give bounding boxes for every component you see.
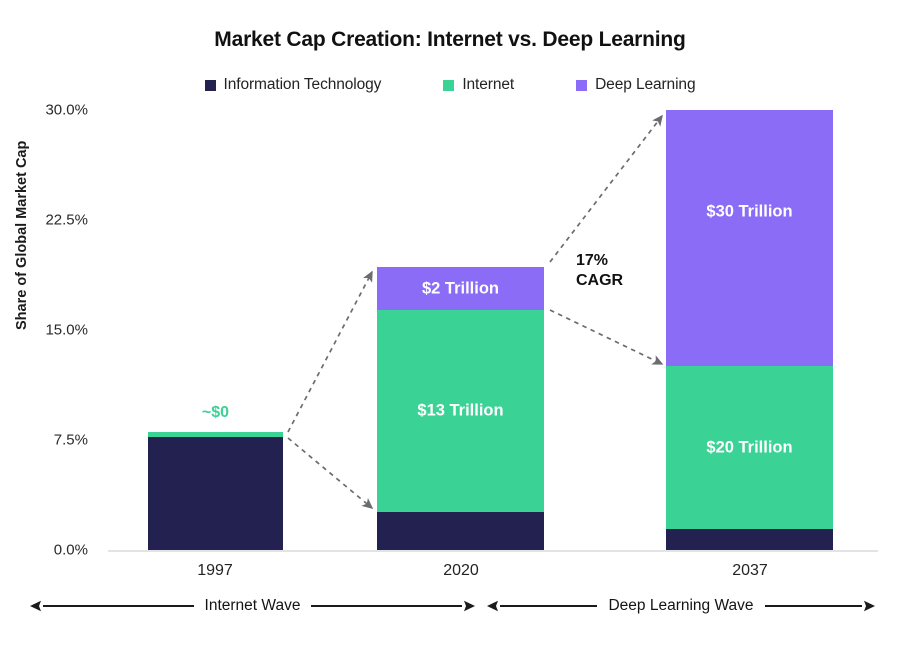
y-tick-0: 0.0% [0,542,88,559]
y-tick-30: 30.0% [0,102,88,119]
legend-item-internet[interactable]: Internet [443,76,514,94]
legend-label-internet: Internet [462,76,514,94]
wave-line-left-deep-learning [500,605,597,607]
bar-label-2020-internet: $13 Trillion [377,402,544,421]
bar-segment-1997-information-technology[interactable] [148,437,283,550]
bar-group-1997[interactable]: ~$0 [148,432,283,550]
chart-root: Market Cap Creation: Internet vs. Deep L… [0,0,900,648]
chart-title: Market Cap Creation: Internet vs. Deep L… [0,28,900,52]
legend-swatch-deep-learning [576,80,587,91]
bar-segment-2020-deep-learning[interactable]: $2 Trillion [377,267,544,310]
y-tick-15: 15.0% [0,322,88,339]
bar-segment-1997-internet[interactable] [148,432,283,437]
bar-group-2020[interactable]: $13 Trillion $2 Trillion [377,267,544,550]
bar-label-2037-internet: $20 Trillion [666,438,833,457]
legend-swatch-information-technology [205,80,216,91]
bar-label-2020-deep-learning: $2 Trillion [377,279,544,298]
legend-label-deep-learning: Deep Learning [595,76,695,94]
wave-label-deep-learning: Deep Learning Wave [597,597,764,615]
wave-arrow-left-deep-learning [487,600,500,612]
cagr-unit: CAGR [576,271,623,291]
legend-label-information-technology: Information Technology [224,76,382,94]
cagr-value: 17% [576,251,623,271]
bar-segment-2037-internet[interactable]: $20 Trillion [666,366,833,529]
chart-legend: Information Technology Internet Deep Lea… [0,76,900,94]
wave-line-right-deep-learning [765,605,862,607]
x-axis-baseline [108,550,878,552]
bar-label-1997-internet: ~$0 [148,404,283,422]
bar-segment-2020-information-technology[interactable] [377,512,544,550]
x-tick-2037: 2037 [650,562,850,580]
wave-label-internet: Internet Wave [194,597,312,615]
legend-item-information-technology[interactable]: Information Technology [205,76,382,94]
wave-band-deep-learning: Deep Learning Wave [487,594,875,618]
y-tick-7-5: 7.5% [0,432,88,449]
bar-group-2037[interactable]: $20 Trillion $30 Trillion [666,110,833,550]
x-tick-2020: 2020 [361,562,561,580]
bar-segment-2020-internet[interactable]: $13 Trillion [377,310,544,512]
legend-item-deep-learning[interactable]: Deep Learning [576,76,695,94]
bar-segment-2037-deep-learning[interactable]: $30 Trillion [666,110,833,366]
wave-arrow-right-deep-learning [862,600,875,612]
cagr-annotation: 17% CAGR [576,251,623,292]
wave-line-left-internet [43,605,194,607]
legend-swatch-internet [443,80,454,91]
wave-arrow-left-internet [30,600,43,612]
wave-band-internet: Internet Wave [30,594,475,618]
wave-arrow-right-internet [462,600,475,612]
x-tick-1997: 1997 [115,562,315,580]
bar-segment-2037-information-technology[interactable] [666,529,833,550]
y-axis-title: Share of Global Market Cap [14,141,30,330]
plot-area: 30.0% 22.5% 15.0% 7.5% 0.0% ~$0 $13 Tril… [118,110,878,550]
y-tick-22-5: 22.5% [0,212,88,229]
bar-label-2037-deep-learning: $30 Trillion [666,203,833,222]
wave-line-right-internet [311,605,462,607]
